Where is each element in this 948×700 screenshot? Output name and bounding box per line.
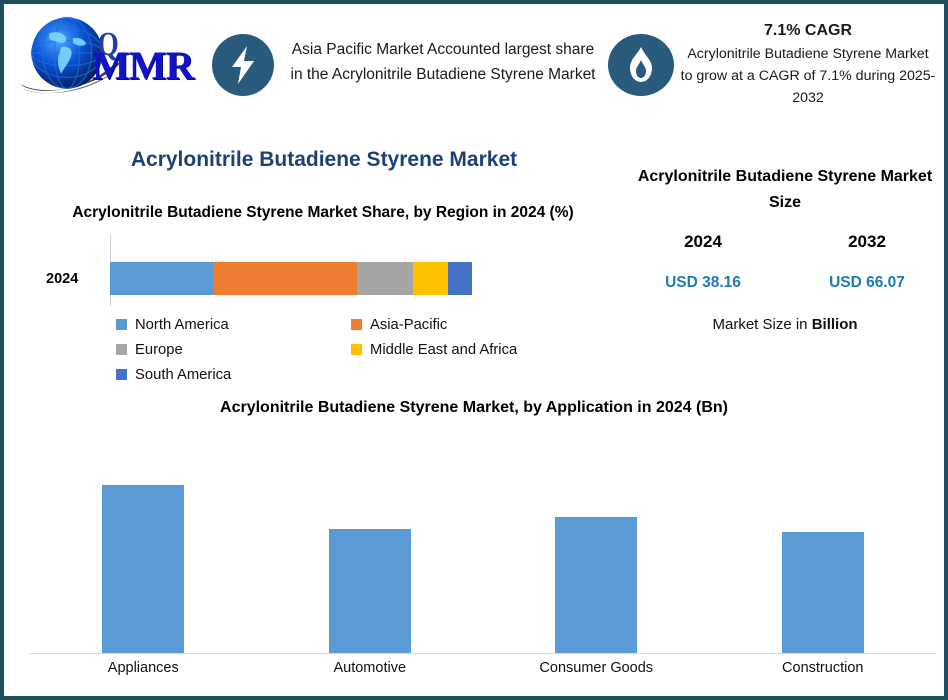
legend-item[interactable]: North America xyxy=(116,312,351,337)
bar-slot xyxy=(483,435,710,653)
application-chart-title: Acrylonitrile Butadiene Styrene Market, … xyxy=(34,399,914,417)
legend-label: Europe xyxy=(135,342,183,358)
mmr-logo: Q MMR xyxy=(20,10,210,96)
bar-automotive[interactable] xyxy=(329,529,411,653)
cagr-callout: 7.1% CAGR Acrylonitrile Butadiene Styren… xyxy=(680,22,936,109)
legend-item[interactable]: South America xyxy=(116,362,351,387)
application-chart-x-labels: Appliances Automotive Consumer Goods Con… xyxy=(30,660,936,676)
asia-pacific-callout-text: Asia Pacific Market Accounted largest sh… xyxy=(286,37,600,87)
infographic-canvas: Q MMR Asia Pacific Market Accounted larg… xyxy=(0,0,948,700)
market-size-unit-emphasis: Billion xyxy=(812,316,858,333)
legend-swatch-icon xyxy=(116,369,127,380)
market-size-year-2024: 2024 xyxy=(638,232,768,252)
application-chart xyxy=(30,434,940,654)
application-chart-bars xyxy=(30,435,936,653)
page-title: Acrylonitrile Butadiene Styrene Market xyxy=(34,148,614,172)
bar-appliances[interactable] xyxy=(102,485,184,653)
x-label-consumer-goods: Consumer Goods xyxy=(483,660,710,676)
market-size-value-2024: USD 38.16 xyxy=(638,274,768,292)
stack-segment-north-america[interactable] xyxy=(110,262,213,295)
legend-label: North America xyxy=(135,317,229,333)
lightning-bolt-icon xyxy=(212,34,274,96)
flame-icon xyxy=(608,34,674,96)
legend-label: Asia-Pacific xyxy=(370,317,447,333)
x-label-automotive: Automotive xyxy=(257,660,484,676)
x-label-appliances: Appliances xyxy=(30,660,257,676)
legend-label: South America xyxy=(135,367,231,383)
header-row: Q MMR Asia Pacific Market Accounted larg… xyxy=(4,4,944,142)
x-label-construction: Construction xyxy=(710,660,937,676)
share-chart-title: Acrylonitrile Butadiene Styrene Market S… xyxy=(38,200,608,226)
market-size-year-2032: 2032 xyxy=(802,232,932,252)
stack-segment-south-america[interactable] xyxy=(448,262,472,295)
legend-label: Middle East and Africa xyxy=(370,342,517,358)
logo-wordmark: MMR xyxy=(92,42,193,89)
legend-item[interactable]: Europe xyxy=(116,337,351,362)
legend-item[interactable]: Asia-Pacific xyxy=(351,312,586,337)
legend-item[interactable]: Middle East and Africa xyxy=(351,337,586,362)
stack-segment-asia-pacific[interactable] xyxy=(213,262,357,295)
legend-swatch-icon xyxy=(351,344,362,355)
legend-swatch-icon xyxy=(351,319,362,330)
cagr-headline: 7.1% CAGR xyxy=(680,22,936,40)
stack-segment-middle-east-and-africa[interactable] xyxy=(413,262,447,295)
market-size-title: Acrylonitrile Butadiene Styrene Market S… xyxy=(634,164,936,216)
bar-consumer-goods[interactable] xyxy=(555,517,637,653)
share-chart-category-label: 2024 xyxy=(46,271,78,287)
stack-segment-europe[interactable] xyxy=(357,262,413,295)
application-chart-baseline xyxy=(30,653,936,654)
stacked-bar xyxy=(110,262,472,295)
market-size-value-2032: USD 66.07 xyxy=(802,274,932,292)
bar-slot xyxy=(710,435,937,653)
bar-construction[interactable] xyxy=(782,532,864,653)
legend-swatch-icon xyxy=(116,319,127,330)
legend-swatch-icon xyxy=(116,344,127,355)
market-size-unit-prefix: Market Size in xyxy=(712,316,811,333)
share-chart-legend: North America Asia-Pacific Europe Middle… xyxy=(116,312,586,387)
market-size-unit: Market Size in Billion xyxy=(634,316,936,333)
cagr-description: Acrylonitrile Butadiene Styrene Market t… xyxy=(680,43,936,109)
bar-slot xyxy=(257,435,484,653)
market-size-panel: Acrylonitrile Butadiene Styrene Market S… xyxy=(634,164,936,354)
share-chart: 2024 North America Asia-Pacific Europe xyxy=(34,256,614,392)
bar-slot xyxy=(30,435,257,653)
